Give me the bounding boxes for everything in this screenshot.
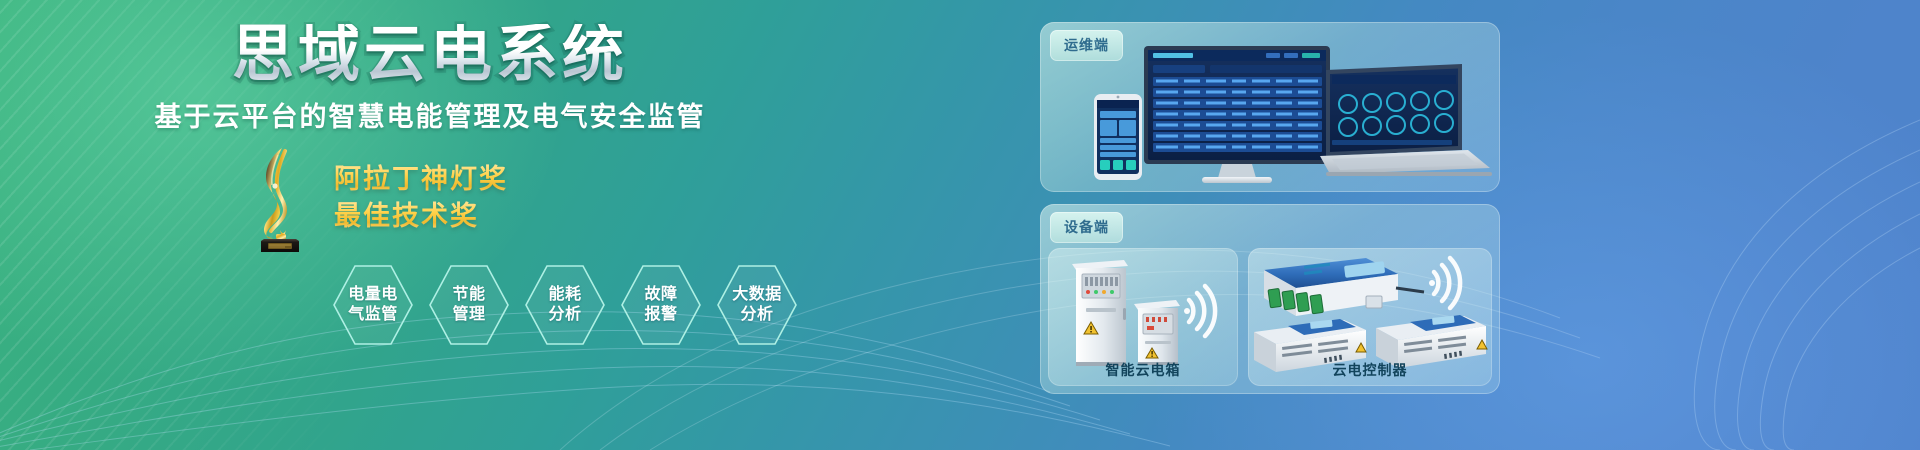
award-line-2: 最佳技术奖 bbox=[334, 198, 508, 234]
badge-line-1: 节能 bbox=[452, 286, 485, 303]
banner-left-content: 思域云电系统 思域云电系统 基于云平台的智慧电能管理及电气安全监管 bbox=[0, 0, 860, 450]
badge-line-1: 电量电 bbox=[348, 286, 398, 303]
feature-badge-1[interactable]: 节能 管理 bbox=[426, 262, 512, 348]
feature-badge-0[interactable]: 电量电 气监管 bbox=[330, 262, 416, 348]
title-group: 思域云电系统 思域云电系统 bbox=[0, 0, 860, 100]
badge-line-2: 气监管 bbox=[348, 306, 398, 323]
feature-badge-label: 电量电 气监管 bbox=[348, 285, 398, 325]
badge-line-1: 大数据 bbox=[732, 286, 782, 303]
wifi-signal-icon bbox=[1189, 286, 1215, 336]
feature-badge-3[interactable]: 故障 报警 bbox=[618, 262, 704, 348]
page-subtitle: 基于云平台的智慧电能管理及电气安全监管 bbox=[0, 95, 860, 134]
device-panel-tag: 设备端 bbox=[1050, 212, 1123, 243]
feature-badge-label: 节能 管理 bbox=[452, 285, 485, 325]
ops-device-mockups bbox=[1040, 22, 1500, 192]
laptop-mockup bbox=[1320, 64, 1492, 176]
device-item-label-0: 智能云电箱 bbox=[1048, 360, 1238, 380]
page-title: 思域云电系统 bbox=[0, 24, 860, 86]
feature-badge-label: 大数据 分析 bbox=[732, 285, 782, 325]
promo-banner: 思域云电系统 思域云电系统 基于云平台的智慧电能管理及电气安全监管 bbox=[0, 0, 1920, 450]
trophy-icon bbox=[240, 142, 318, 254]
controller-group: 云电控制器 bbox=[1248, 248, 1492, 386]
feature-badge-2[interactable]: 能耗 分析 bbox=[522, 262, 608, 348]
banner-right-panels: 运维端 bbox=[1040, 22, 1500, 432]
feature-badge-4[interactable]: 大数据 分析 bbox=[714, 262, 800, 348]
badge-line-2: 报警 bbox=[644, 306, 677, 323]
wifi-signal-icon bbox=[1434, 258, 1460, 308]
smart-cabinet-group: 智能云电箱 bbox=[1048, 248, 1238, 386]
badge-line-1: 故障 bbox=[644, 286, 677, 303]
badge-line-2: 管理 bbox=[452, 306, 485, 323]
badge-line-1: 能耗 bbox=[548, 286, 581, 303]
phone-mockup bbox=[1094, 94, 1142, 180]
badge-line-2: 分析 bbox=[548, 306, 581, 323]
award-line-1: 阿拉丁神灯奖 bbox=[334, 161, 508, 197]
desktop-monitor-mockup bbox=[1144, 46, 1330, 183]
tall-cabinet bbox=[1072, 260, 1128, 366]
device-item-label-1: 云电控制器 bbox=[1248, 360, 1492, 380]
controller-unit-top bbox=[1264, 258, 1424, 316]
feature-badge-list: 电量电 气监管 节能 管理 能耗 分析 bbox=[330, 262, 800, 348]
ops-panel: 运维端 bbox=[1040, 22, 1500, 192]
award-text-block: 阿拉丁神灯奖 最佳技术奖 bbox=[334, 161, 508, 233]
badge-line-2: 分析 bbox=[740, 306, 773, 323]
feature-badge-label: 故障 报警 bbox=[644, 285, 677, 325]
device-panel: 设备端 bbox=[1040, 204, 1500, 394]
small-cabinet bbox=[1134, 300, 1180, 365]
award-section: 阿拉丁神灯奖 最佳技术奖 bbox=[240, 140, 800, 255]
feature-badge-label: 能耗 分析 bbox=[548, 285, 581, 325]
